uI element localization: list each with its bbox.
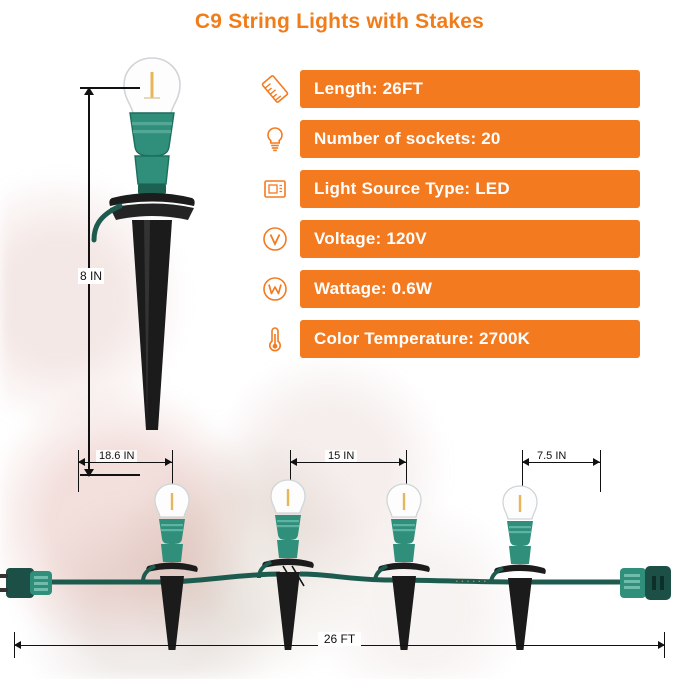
string-drawing — [0, 470, 679, 650]
arrow-right-icon — [593, 458, 600, 466]
segment-line — [78, 462, 172, 463]
bulb-stake-drawing — [40, 40, 240, 440]
bulb-height-label: 8 IN — [78, 268, 104, 284]
product-infographic: C9 String Lights with Stakes Length: 26F… — [0, 0, 679, 679]
segment-label: 7.5 IN — [534, 450, 569, 462]
arrow-left-icon — [522, 458, 529, 466]
bulb-stake-diagram: 8 IN — [40, 40, 240, 440]
spec-text: Light Source Type: LED — [300, 170, 640, 208]
thermometer-icon — [258, 322, 292, 356]
segment-label: 15 IN — [325, 450, 357, 462]
spec-row: Light Source Type: LED — [258, 170, 640, 208]
spec-list: Length: 26FT Number of sockets: 20 — [258, 70, 640, 370]
segment-line — [290, 462, 406, 463]
segment-label: 18.6 IN — [96, 450, 137, 462]
arrow-left-icon — [290, 458, 297, 466]
arrow-left-icon — [78, 458, 85, 466]
arrow-right-icon — [399, 458, 406, 466]
spec-text: Wattage: 0.6W — [300, 270, 640, 308]
spec-row: Length: 26FT — [258, 70, 640, 108]
spec-text: Number of sockets: 20 — [300, 120, 640, 158]
string-light-diagram: 18.6 IN 15 IN 7.5 IN — [0, 440, 679, 679]
spec-text: Length: 26FT — [300, 70, 640, 108]
spec-row: Voltage: 120V — [258, 220, 640, 258]
spec-row: Number of sockets: 20 — [258, 120, 640, 158]
spec-row: Color Temperature: 2700K — [258, 320, 640, 358]
bulb-icon — [258, 122, 292, 156]
led-chip-icon — [258, 172, 292, 206]
spec-text: Color Temperature: 2700K — [300, 320, 640, 358]
ruler-icon — [258, 72, 292, 106]
arrow-right-icon — [165, 458, 172, 466]
total-length-label: 26 FT — [0, 632, 679, 646]
ellipsis-marker: ...... — [455, 570, 489, 585]
voltage-icon — [258, 222, 292, 256]
spec-text: Voltage: 120V — [300, 220, 640, 258]
segment-line — [522, 462, 600, 463]
wattage-icon — [258, 272, 292, 306]
spec-row: Wattage: 0.6W — [258, 270, 640, 308]
page-title: C9 String Lights with Stakes — [0, 10, 679, 34]
total-length-text: 26 FT — [318, 632, 361, 646]
